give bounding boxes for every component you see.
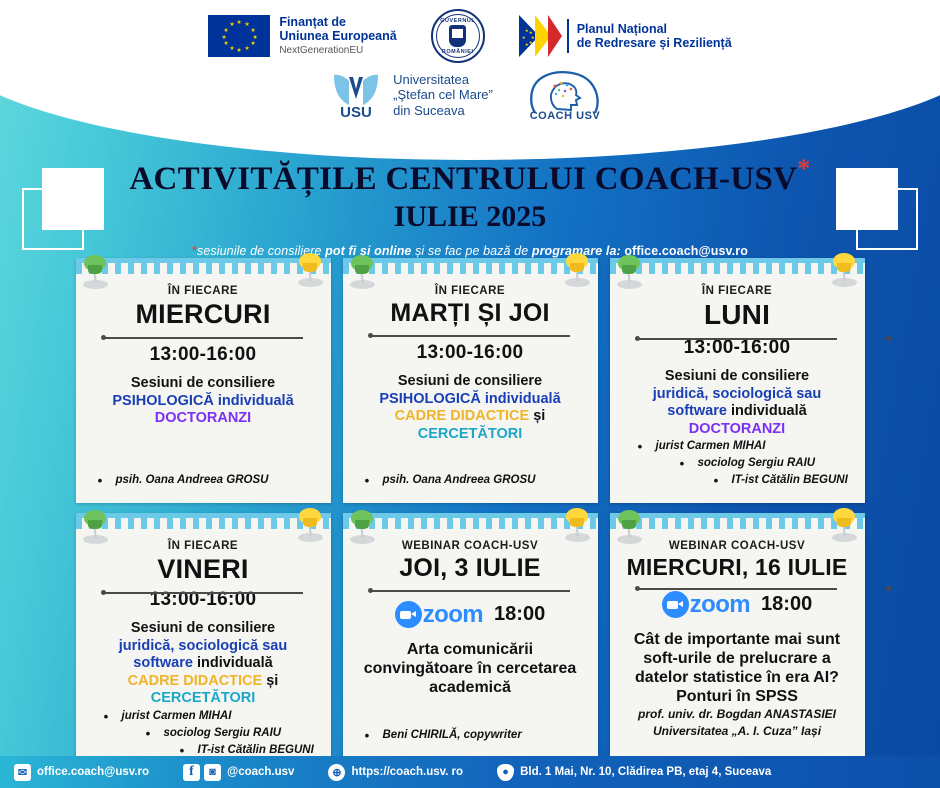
- card-day: MIERCURI, 16 IULIE: [620, 554, 855, 581]
- card-speaker-list: jurist Carmen MIHAIsociolog Sergiu RAIUI…: [620, 438, 855, 491]
- card-eyebrow: WEBINAR COACH-USV: [353, 539, 588, 553]
- facebook-icon[interactable]: f: [183, 764, 200, 781]
- envelope-icon: ✉: [14, 764, 31, 781]
- card-luni: ÎN FIECARELUNI13:00-16:00Sesiuni de cons…: [610, 258, 865, 503]
- pushpin-icon: [830, 253, 860, 287]
- card-miercuri: ÎN FIECAREMIERCURI13:00-16:00Sesiuni de …: [76, 258, 331, 503]
- card-time: 13:00-16:00: [86, 344, 321, 366]
- seal-arc-top: GUVERNUL: [433, 18, 483, 24]
- card-vineri: ÎN FIECAREVINERI13:00-16:00Sesiuni de co…: [76, 513, 331, 758]
- pushpin-icon: [563, 508, 593, 542]
- logo-row-bottom: USU Universitatea „Ştefan cel Mare” din …: [329, 69, 611, 121]
- logo-row-top: ★★ ★★ ★★ ★★ ★★ ★★ Finanțat de Uniunea Eu…: [208, 9, 731, 63]
- card-eyebrow: ÎN FIECARE: [86, 284, 321, 298]
- usu-logo: USU Universitatea „Ştefan cel Mare” din …: [329, 71, 493, 119]
- footer-website-text: https://coach.usv. ro: [351, 766, 463, 778]
- eu-funding-logo: ★★ ★★ ★★ ★★ ★★ ★★ Finanțat de Uniunea Eu…: [208, 15, 396, 57]
- card-time: 18:00: [761, 593, 812, 616]
- footer-address: ● Bld. 1 Mai, Nr. 10, Clădirea PB, etaj …: [497, 764, 771, 781]
- card-marti-joi: ÎN FIECAREMARȚI ȘI JOI13:00-16:00Sesiuni…: [343, 258, 598, 503]
- notepad-teeth: [610, 513, 865, 529]
- card-body-line: CADRE DIDACTICE și: [353, 408, 588, 426]
- poster-root: ★★ ★★ ★★ ★★ ★★ ★★ Finanțat de Uniunea Eu…: [0, 0, 940, 788]
- card-body-line: juridică, sociologică sau: [620, 386, 855, 404]
- activity-card-grid: ÎN FIECAREMIERCURI13:00-16:00Sesiuni de …: [0, 258, 940, 758]
- page-subtitle: IULIE 2025: [0, 199, 940, 235]
- zoom-wordmark: zoom: [690, 593, 750, 617]
- notepad-teeth: [610, 258, 865, 274]
- card-body: Sesiuni de consilierePSIHOLOGICĂ individ…: [86, 375, 321, 428]
- seal-crest-icon: [449, 25, 466, 47]
- card-speaker-list: Beni CHIRILĂ, copywriter: [353, 727, 588, 746]
- page-title: ACTIVITĂȚILE CENTRULUI COACH-USV*: [0, 150, 940, 198]
- footer-email[interactable]: ✉ office.coach@usv.ro: [14, 764, 149, 781]
- note-part-c: și se fac pe bază de: [412, 244, 532, 258]
- coach-usv-logo: COACH USV: [519, 69, 611, 121]
- list-item: sociolog Sergiu RAIU: [622, 455, 853, 472]
- eu-logo-line2: Uniunea Europeană: [279, 30, 396, 44]
- card-body: Sesiuni de consilierejuridică, sociologi…: [86, 620, 321, 708]
- eu-logo-line1: Finanțat de: [279, 16, 396, 30]
- card-divider: [104, 333, 303, 343]
- card-day: VINERI: [86, 554, 321, 585]
- footer-address-text: Bld. 1 Mai, Nr. 10, Clădirea PB, etaj 4,…: [520, 766, 771, 778]
- zoom-wordmark: zoom: [423, 603, 483, 627]
- card-day: LUNI: [620, 299, 855, 331]
- card-eyebrow: ÎN FIECARE: [86, 539, 321, 553]
- zoom-logo-icon: zoom: [662, 591, 750, 618]
- list-item: jurist Carmen MIHAI: [622, 438, 853, 455]
- card-day: MARȚI ȘI JOI: [353, 299, 588, 328]
- seal-arc-bottom: ROMÂNIEI: [433, 49, 483, 55]
- footer-website[interactable]: ⊕ https://coach.usv. ro: [328, 764, 463, 781]
- speaker-name: prof. univ. dr. Bogdan ANASTASIEI: [620, 706, 855, 723]
- notepad-teeth: [343, 513, 598, 529]
- card-divider: [371, 586, 570, 596]
- card-day: JOI, 3 IULIE: [353, 554, 588, 583]
- footer-social-text: @coach.usv: [227, 766, 294, 778]
- list-item: IT-ist Cătălin BEGUNI: [622, 472, 853, 489]
- card-body-line: software individuală: [86, 655, 321, 673]
- card-day: MIERCURI: [86, 299, 321, 330]
- instagram-icon[interactable]: ◙: [204, 764, 221, 781]
- card-eyebrow: ÎN FIECARE: [353, 284, 588, 298]
- footer-bar: ✉ office.coach@usv.ro f ◙ @coach.usv ⊕ h…: [0, 756, 940, 788]
- usu-line2: „Ştefan cel Mare”: [393, 87, 493, 103]
- pnrr-line2: de Redresare și Reziliență: [577, 36, 732, 50]
- pushpin-icon: [830, 508, 860, 542]
- page-title-text: ACTIVITĂȚILE CENTRULUI COACH-USV: [129, 161, 797, 197]
- card-eyebrow: ÎN FIECARE: [620, 284, 855, 298]
- list-item: psih. Oana Andreea GROSU: [355, 472, 586, 489]
- eu-flag-icon: ★★ ★★ ★★ ★★ ★★ ★★: [208, 15, 270, 57]
- card-divider: [638, 334, 837, 336]
- svg-text:COACH USV: COACH USV: [530, 110, 601, 121]
- pushpin-icon: [296, 508, 326, 542]
- usu-line3: din Suceava: [393, 103, 493, 119]
- zoom-row: zoom18:00: [353, 601, 588, 628]
- header-logos: ★★ ★★ ★★ ★★ ★★ ★★ Finanțat de Uniunea Eu…: [0, 0, 940, 155]
- svg-text:USU: USU: [340, 104, 372, 119]
- title-asterisk: *: [797, 154, 810, 183]
- card-body-line: Sesiuni de consiliere: [86, 375, 321, 393]
- card-eyebrow: WEBINAR COACH-USV: [620, 539, 855, 553]
- card-speaker-list: jurist Carmen MIHAIsociolog Sergiu RAIUI…: [86, 708, 321, 761]
- notepad-teeth: [76, 258, 331, 274]
- card-body-line: DOCTORANZI: [620, 421, 855, 439]
- card-time: 13:00-16:00: [620, 337, 855, 359]
- card-body-line: Sesiuni de consiliere: [353, 373, 588, 391]
- pushpin-icon: [563, 253, 593, 287]
- card-time: 13:00-16:00: [353, 342, 588, 364]
- card-body-line: PSIHOLOGICĂ individuală: [86, 393, 321, 411]
- romania-government-seal: GUVERNUL ROMÂNIEI: [431, 9, 485, 63]
- card-body-line: CADRE DIDACTICE și: [86, 673, 321, 691]
- pushpin-icon: [615, 510, 645, 544]
- card-webinar-16-iulie: WEBINAR COACH-USVMIERCURI, 16 IULIEzoom1…: [610, 513, 865, 758]
- pushpin-icon: [296, 253, 326, 287]
- zoom-logo-icon: zoom: [395, 601, 483, 628]
- pushpin-icon: [348, 255, 378, 289]
- footer-social[interactable]: f ◙ @coach.usv: [183, 764, 294, 781]
- card-speaker-list: psih. Oana Andreea GROSU: [86, 472, 321, 491]
- card-body: Sesiuni de consilierejuridică, sociologi…: [620, 368, 855, 438]
- list-item: psih. Oana Andreea GROSU: [88, 472, 319, 489]
- card-body-line: CERCETĂTORI: [353, 426, 588, 444]
- usu-mark-icon: USU: [329, 71, 383, 119]
- pnrr-logo: ★★ ★★ ★★ Planul Național de Redresare și…: [519, 15, 732, 57]
- card-webinar-3-iulie: WEBINAR COACH-USVJOI, 3 IULIEzoom18:00Ar…: [343, 513, 598, 758]
- footer-email-text: office.coach@usv.ro: [37, 766, 149, 778]
- pnrr-line1: Planul Național: [577, 22, 732, 36]
- globe-icon: ⊕: [328, 764, 345, 781]
- card-body-line: Sesiuni de consiliere: [620, 368, 855, 386]
- card-divider: [638, 584, 837, 586]
- title-block: ACTIVITĂȚILE CENTRULUI COACH-USV* IULIE …: [0, 150, 940, 258]
- card-title: Arta comunicării convingătoare în cercet…: [353, 640, 588, 697]
- pnrr-arrows-icon: ★★ ★★ ★★: [519, 15, 569, 57]
- card-title: Cât de importante mai sunt soft-urile de…: [620, 630, 855, 706]
- title-note: *sesiunile de consiliere pot fi și onlin…: [0, 244, 940, 258]
- card-speaker-list: psih. Oana Andreea GROSU: [353, 472, 588, 491]
- card-body-line: Sesiuni de consiliere: [86, 620, 321, 638]
- card-body: Sesiuni de consilierePSIHOLOGICĂ individ…: [353, 373, 588, 443]
- list-item: sociolog Sergiu RAIU: [88, 725, 319, 742]
- card-body-line: software individuală: [620, 403, 855, 421]
- pushpin-icon: [81, 510, 111, 544]
- card-body-line: CERCETĂTORI: [86, 690, 321, 708]
- notepad-teeth: [76, 513, 331, 529]
- pushpin-icon: [348, 510, 378, 544]
- notepad-teeth: [343, 258, 598, 274]
- list-item: Beni CHIRILĂ, copywriter: [355, 727, 586, 744]
- list-item: jurist Carmen MIHAI: [88, 708, 319, 725]
- card-body-line: PSIHOLOGICĂ individuală: [353, 391, 588, 409]
- card-speaker: prof. univ. dr. Bogdan ANASTASIEIUnivers…: [620, 706, 855, 746]
- usu-line1: Universitatea: [393, 72, 493, 88]
- pushpin-icon: [81, 255, 111, 289]
- card-divider: [371, 331, 570, 341]
- speaker-affiliation: Universitatea „A. I. Cuza” Iași: [620, 723, 855, 740]
- map-pin-icon: ●: [497, 764, 514, 781]
- card-body-line: DOCTORANZI: [86, 410, 321, 428]
- zoom-row: zoom18:00: [620, 591, 855, 618]
- eu-logo-line3: NextGenerationEU: [279, 45, 396, 56]
- card-time: 18:00: [494, 603, 545, 626]
- card-body-line: juridică, sociologică sau: [86, 638, 321, 656]
- pushpin-icon: [615, 255, 645, 289]
